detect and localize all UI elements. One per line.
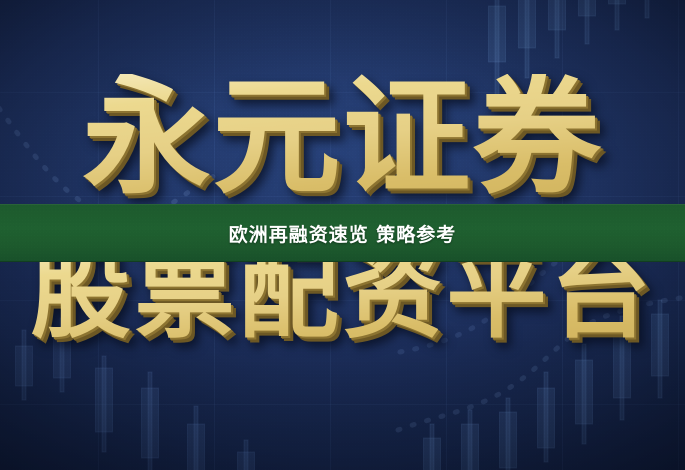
topic-ribbon: 欧洲再融资速览 策略参考 bbox=[0, 204, 685, 262]
brand-name-line1: 永元证券 bbox=[0, 74, 685, 202]
ribbon-text: 欧洲再融资速览 策略参考 bbox=[0, 204, 685, 262]
promo-banner: 永元证券 股票配资平台 欧洲再融资速览 策略参考 bbox=[0, 0, 685, 470]
